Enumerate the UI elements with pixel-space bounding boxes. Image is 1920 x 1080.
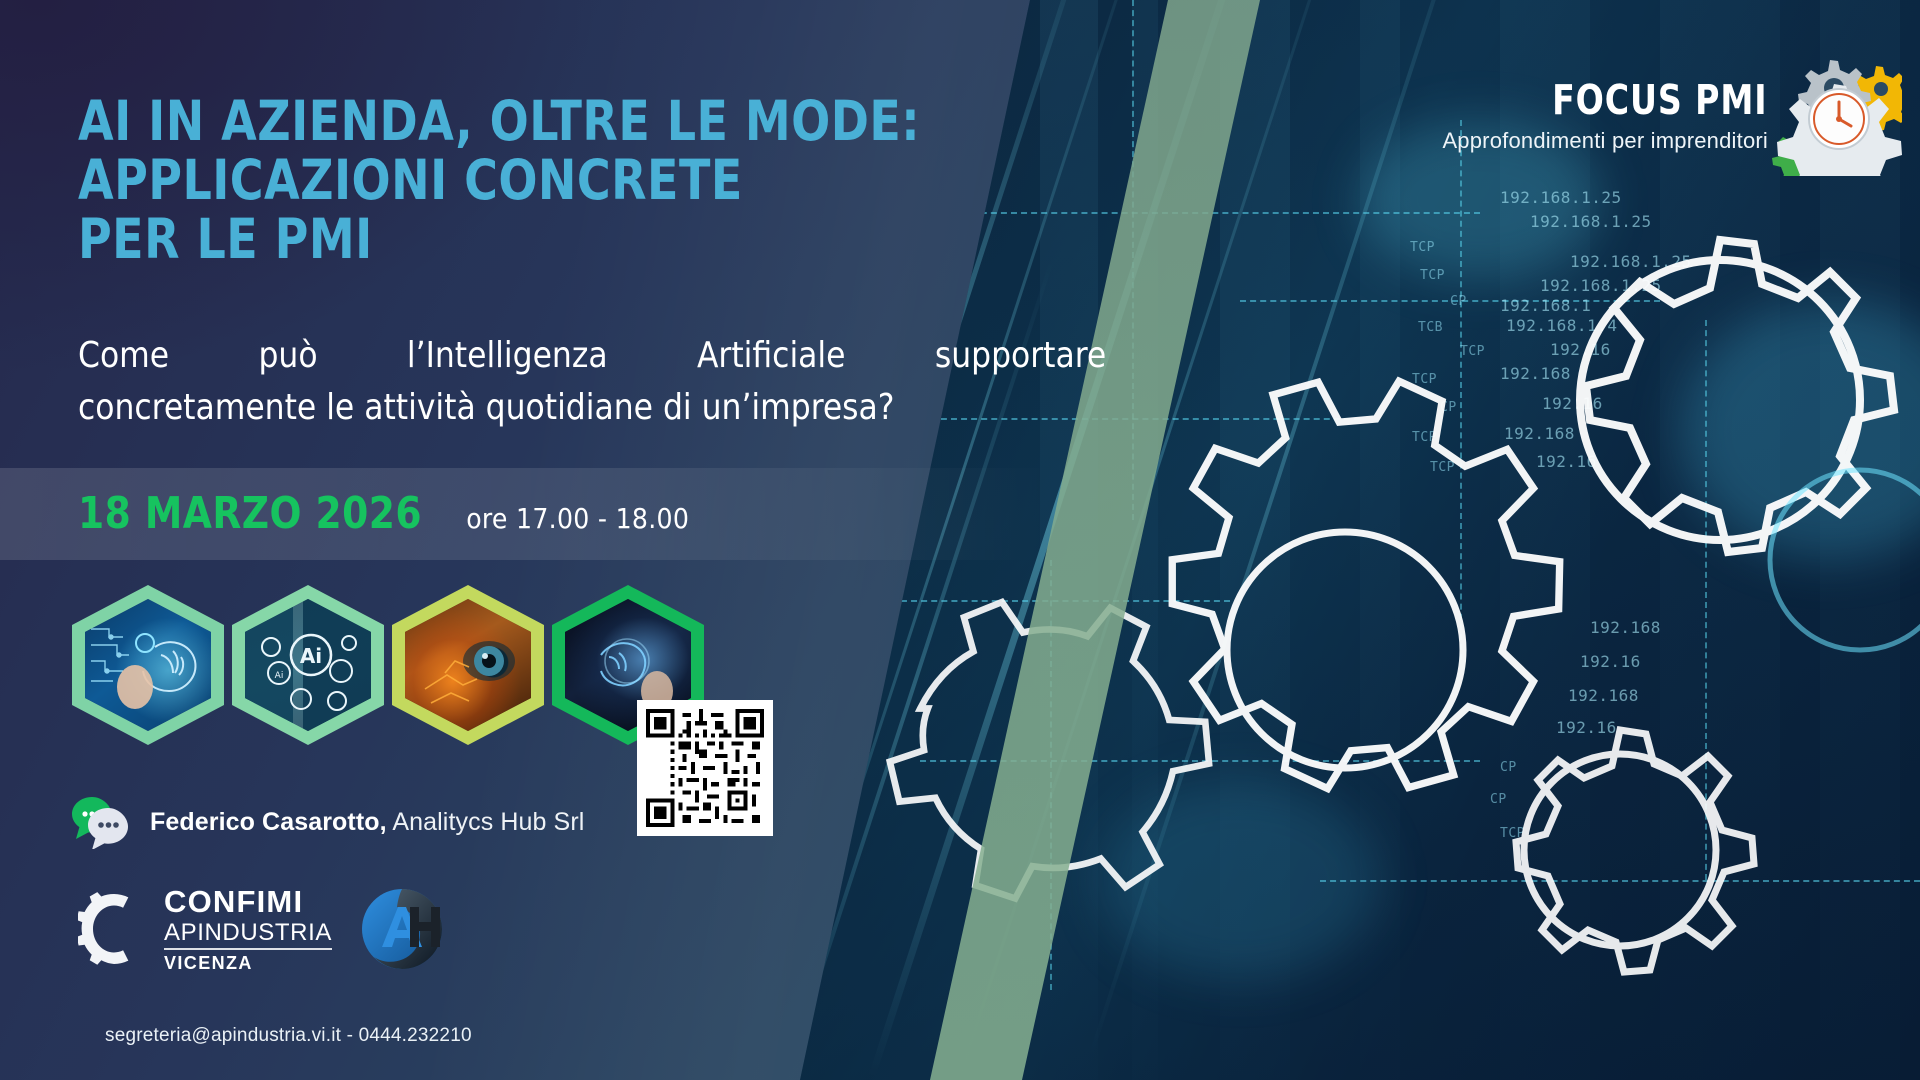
footer-contact: segreteria@apindustria.vi.it - 0444.2322… (105, 1025, 472, 1047)
speech-bubbles-icon (70, 795, 132, 849)
confimi-logo: CONFIMI APINDUSTRIA VICENZA (78, 886, 332, 972)
hex-image-hand-brain-circuit (72, 585, 224, 745)
svg-text:Ai: Ai (300, 644, 322, 668)
subtitle-line-2: concretamente le attività quotidiane di … (78, 382, 1106, 434)
date-row: 18 MARZO 2026 ore 17.00 - 18.00 (78, 488, 689, 539)
subtitle-line-1: Come può l’Intelligenza Artificiale supp… (78, 330, 1106, 382)
event-subtitle: Come può l’Intelligenza Artificiale supp… (78, 330, 1106, 434)
logo-row: CONFIMI APINDUSTRIA VICENZA (78, 885, 446, 973)
series-subtitle: Approfondimenti per imprenditori (1442, 128, 1768, 154)
title-line-1: AI IN AZIENDA, OLTRE LE MODE: (78, 92, 971, 151)
event-poster: 192.168.1.25 192.168.1.25 TCP 192.168.1.… (0, 0, 1920, 1080)
event-time: ore 17.00 - 18.00 (466, 502, 689, 535)
gear-c-icon (78, 890, 150, 968)
gears-clock-icon (1772, 56, 1902, 176)
confimi-line-1: CONFIMI (164, 886, 332, 917)
confimi-wordmark: CONFIMI APINDUSTRIA VICENZA (164, 886, 332, 972)
speaker-row: Federico Casarotto, Analitycs Hub Srl (70, 795, 584, 849)
hex-image-eye-tech (392, 585, 544, 745)
event-date: 18 MARZO 2026 (78, 488, 422, 539)
svg-text:Ai: Ai (275, 671, 284, 681)
speaker-label: Federico Casarotto, Analitycs Hub Srl (150, 808, 584, 837)
confimi-line-3: VICENZA (164, 954, 332, 972)
speaker-organization: Analitycs Hub Srl (387, 808, 585, 836)
qr-code[interactable] (637, 700, 773, 836)
page-title: AI IN AZIENDA, OLTRE LE MODE: APPLICAZIO… (78, 92, 971, 269)
title-line-3: PER LE PMI (78, 210, 971, 269)
ah-analitycs-hub-icon (358, 885, 446, 973)
series-title: FOCUS PMI (1475, 78, 1768, 122)
speaker-name: Federico Casarotto, (150, 808, 387, 836)
confimi-line-2: APINDUSTRIA (164, 921, 332, 950)
hexagon-image-row: Ai Ai (72, 585, 704, 745)
hex-image-ai-gears: Ai Ai (232, 585, 384, 745)
series-brand-block: FOCUS PMI Approfondimenti per imprendito… (1442, 78, 1768, 154)
title-line-2: APPLICAZIONI CONCRETE (78, 151, 971, 210)
